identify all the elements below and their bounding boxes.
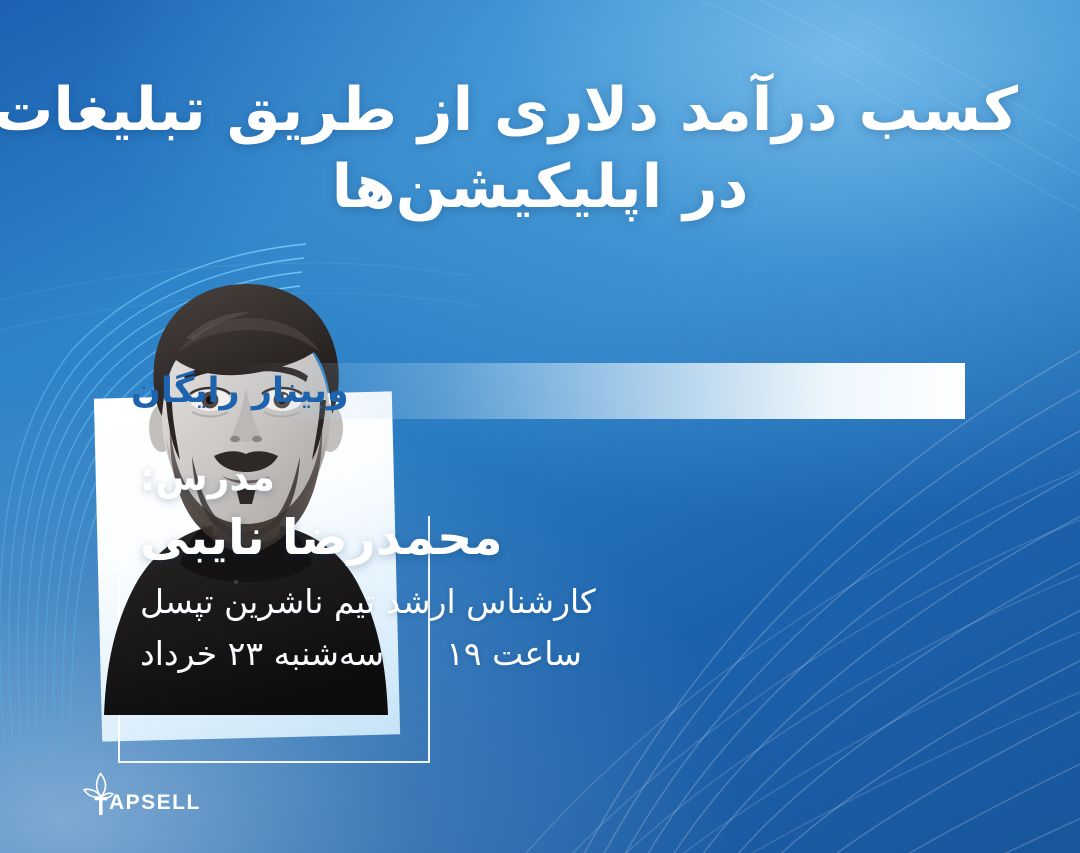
page-title: کسب درآمد دلاری از طریق تبلیغات در اپلیک… xyxy=(62,72,1018,226)
speaker-role: کارشناس ارشد تیم ناشرین تپسل xyxy=(140,578,1020,626)
webinar-poster: کسب درآمد دلاری از طریق تبلیغات در اپلیک… xyxy=(0,0,1080,853)
tapsell-wordmark: APSELL xyxy=(109,792,201,813)
title-line-2: در اپلیکیشن‌ها xyxy=(62,149,1018,226)
speaker-label: مدرس: xyxy=(140,455,1020,499)
tapsell-logo: APSELL xyxy=(80,771,201,815)
event-time: ساعت ۱۹ xyxy=(446,630,582,678)
title-line-1: کسب درآمد دلاری از طریق تبلیغات xyxy=(62,72,1018,149)
speaker-info-block: مدرس: محمدرضا نایبی کارشناس ارشد تیم ناش… xyxy=(100,455,1020,678)
speaker-name: محمدرضا نایبی xyxy=(140,509,1020,566)
free-webinar-badge: وبینار رایگان xyxy=(115,363,965,419)
schedule-row: ساعت ۱۹ سه‌شنبه ۲۳ خرداد xyxy=(140,630,1020,678)
badge-label: وبینار رایگان xyxy=(115,371,349,411)
event-date: سه‌شنبه ۲۳ خرداد xyxy=(140,630,384,678)
